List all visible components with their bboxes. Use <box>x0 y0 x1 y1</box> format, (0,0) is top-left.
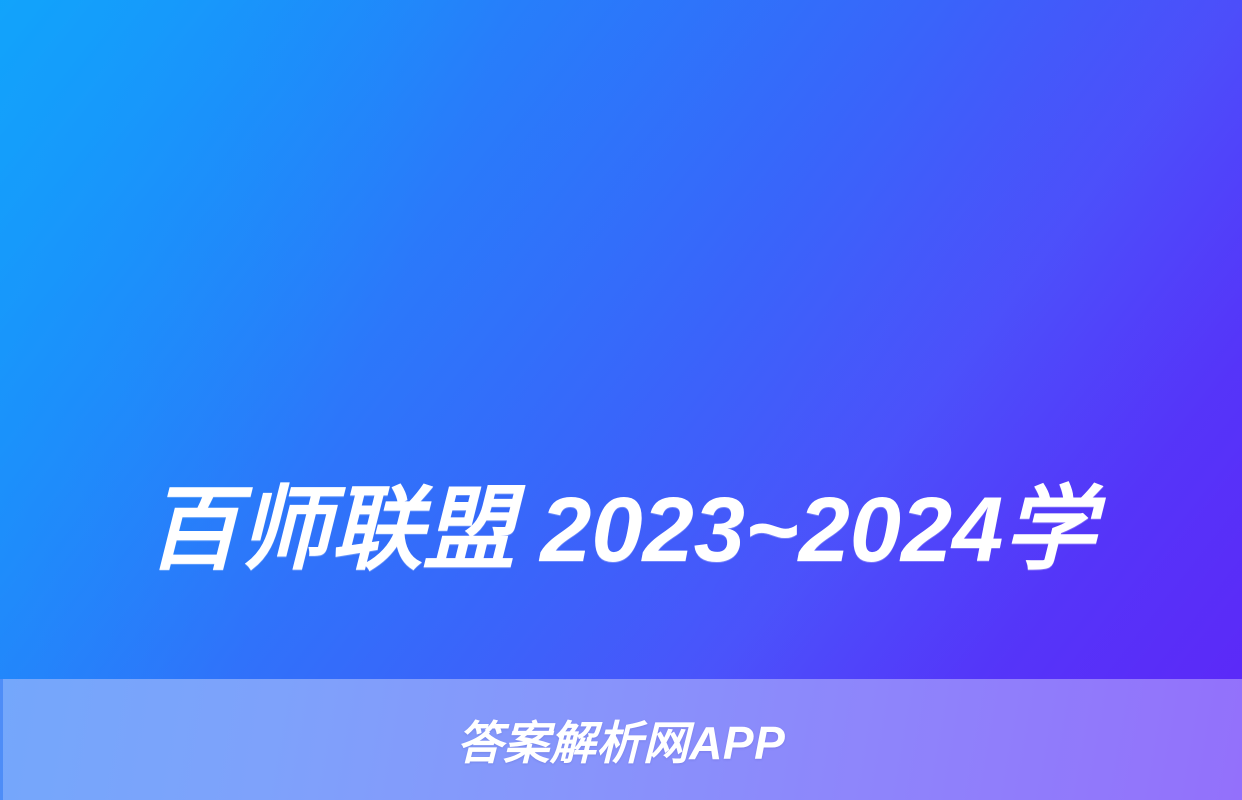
app-watermark-label: 答案解析网APP <box>457 707 786 773</box>
app-watermark: 答案解析网APP <box>0 679 1242 800</box>
promo-card: 百师联盟 2023~2024学 年度高一1月联考数学答 案 答案解析网APP <box>0 0 1242 800</box>
page-title-line-1: 百师联盟 2023~2024学 <box>0 460 1242 600</box>
